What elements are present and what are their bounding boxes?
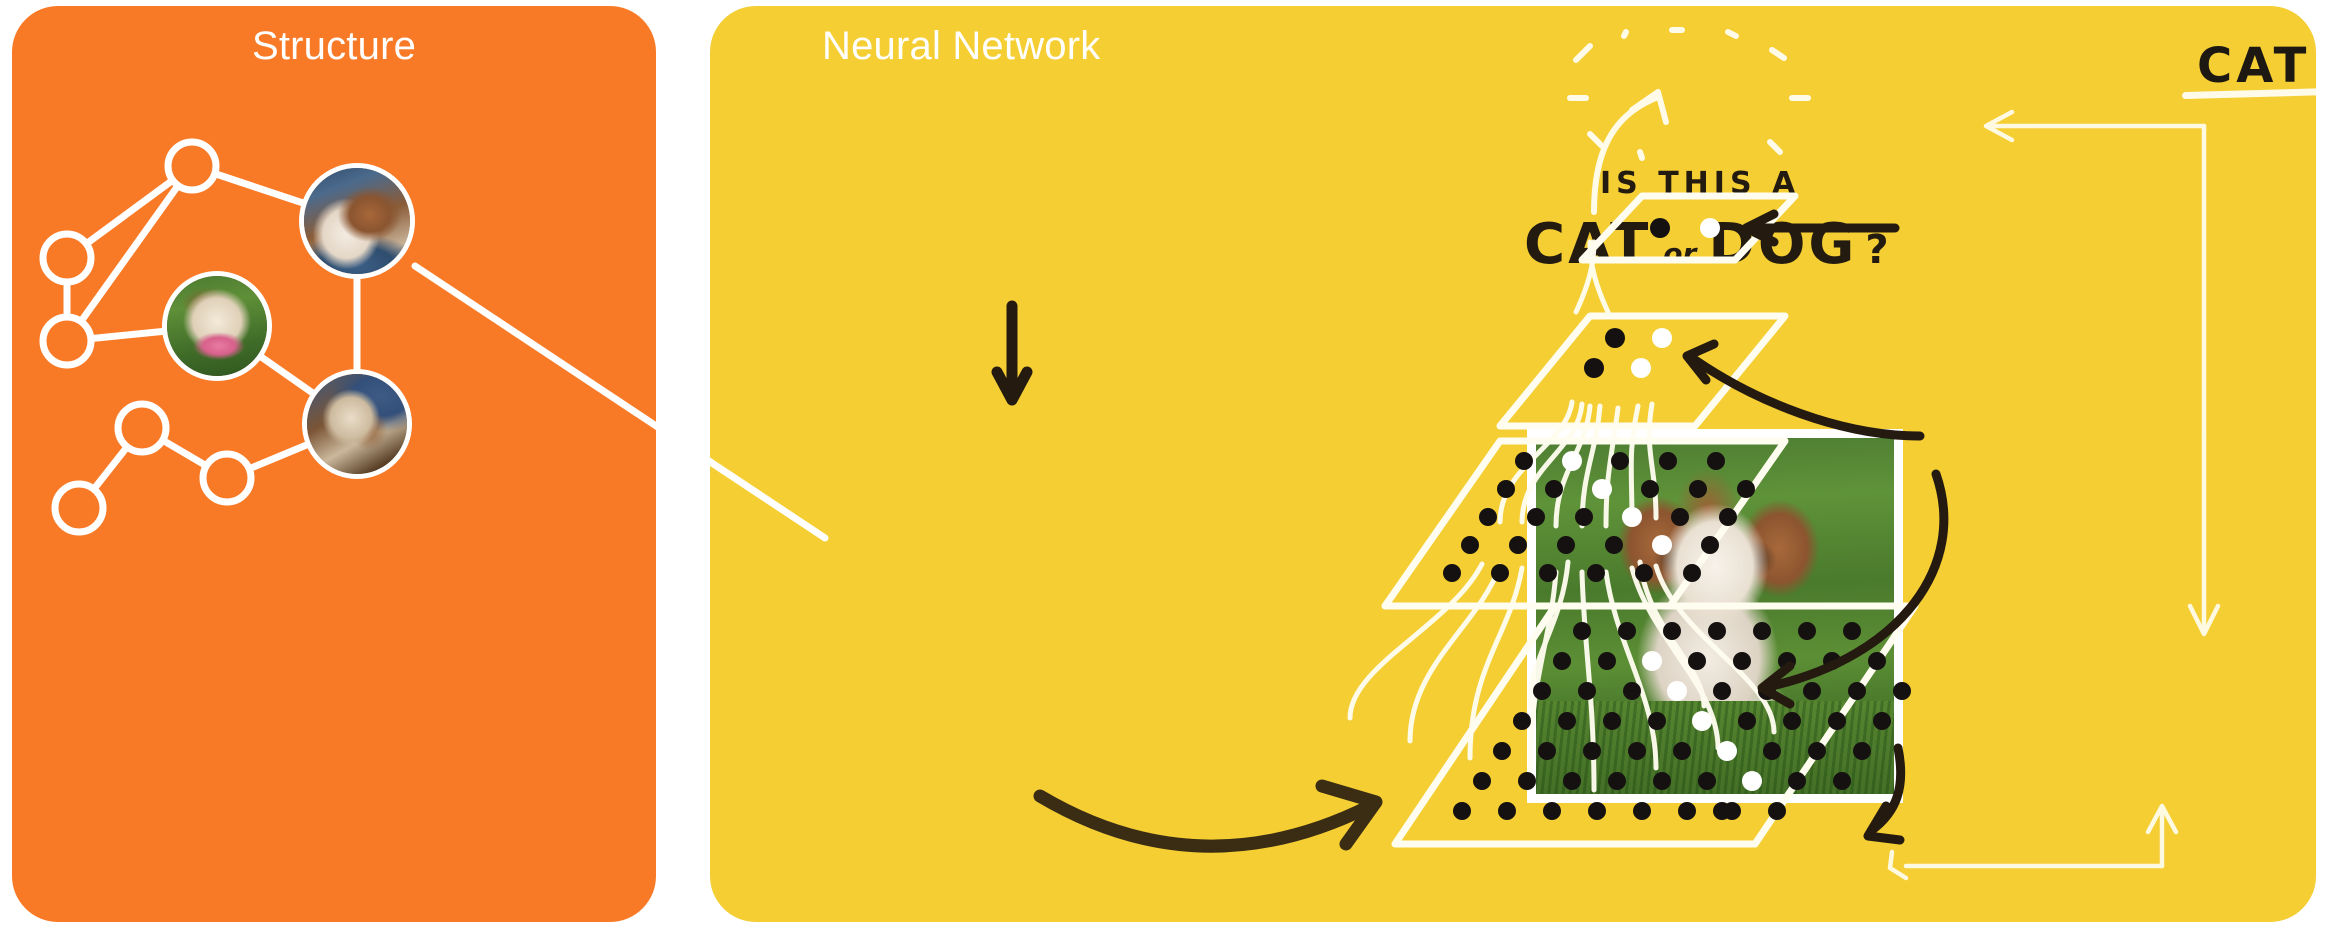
question-conjunction: or <box>1651 237 1708 270</box>
graph-node[interactable] <box>203 454 251 502</box>
bulldog-sitting-photo <box>307 374 407 474</box>
verdict-cat-label: CAT <box>2197 38 2310 94</box>
graph-node[interactable] <box>43 234 91 282</box>
question-to-image-arrow-icon <box>997 306 1027 400</box>
activated-upper-arrow-icon <box>1695 360 1920 436</box>
neural-network-panel: Neural Network IS THIS A CATorDOG? CAT D… <box>710 6 2316 922</box>
question-word-dog: DOG <box>1708 212 1857 277</box>
graph-node[interactable] <box>168 142 216 190</box>
question-line-2: CATorDOG? <box>1524 212 1889 277</box>
image-to-network-arrow-icon <box>1040 786 1376 846</box>
structure-panel-title: Structure <box>12 24 656 69</box>
graph-photo-node-bulldog-lying[interactable] <box>299 163 415 279</box>
graph-node[interactable] <box>118 404 166 452</box>
activated-upper-arrowhead-icon <box>1687 344 1714 380</box>
dog-sparkle-icon <box>1570 30 1808 158</box>
infographic-canvas: Structure <box>0 0 2330 936</box>
layer-hidden-2 <box>1500 316 1785 426</box>
edge-n1-n2 <box>67 166 192 258</box>
question-mark: ? <box>1857 227 1888 273</box>
question-word-cat: CAT <box>1524 212 1651 277</box>
edge-n4-n6 <box>79 428 142 508</box>
outer-flow-bracket <box>1890 112 2218 878</box>
bulldog-puppy-photo <box>1536 438 1894 794</box>
neural-network-panel-title: Neural Network <box>822 24 1100 69</box>
graph-photo-node-bulldog-sitting[interactable] <box>302 369 412 479</box>
hidden-2-neurons <box>1584 328 1672 378</box>
bulldog-grass-photo <box>167 276 267 376</box>
neural-network-diagram-svg <box>710 6 2316 922</box>
input-image-frame[interactable] <box>1527 429 1903 803</box>
layer-plane-hidden-2 <box>1500 316 1785 426</box>
bulldog-lying-photo <box>304 168 410 274</box>
question-line-1: IS THIS A <box>1600 166 1800 201</box>
edge-n4-n5 <box>142 428 227 478</box>
graph-node[interactable] <box>55 484 103 532</box>
structure-panel: Structure <box>12 6 656 922</box>
graph-node[interactable] <box>43 317 91 365</box>
graph-photo-node-bulldog-grass[interactable] <box>162 271 272 381</box>
